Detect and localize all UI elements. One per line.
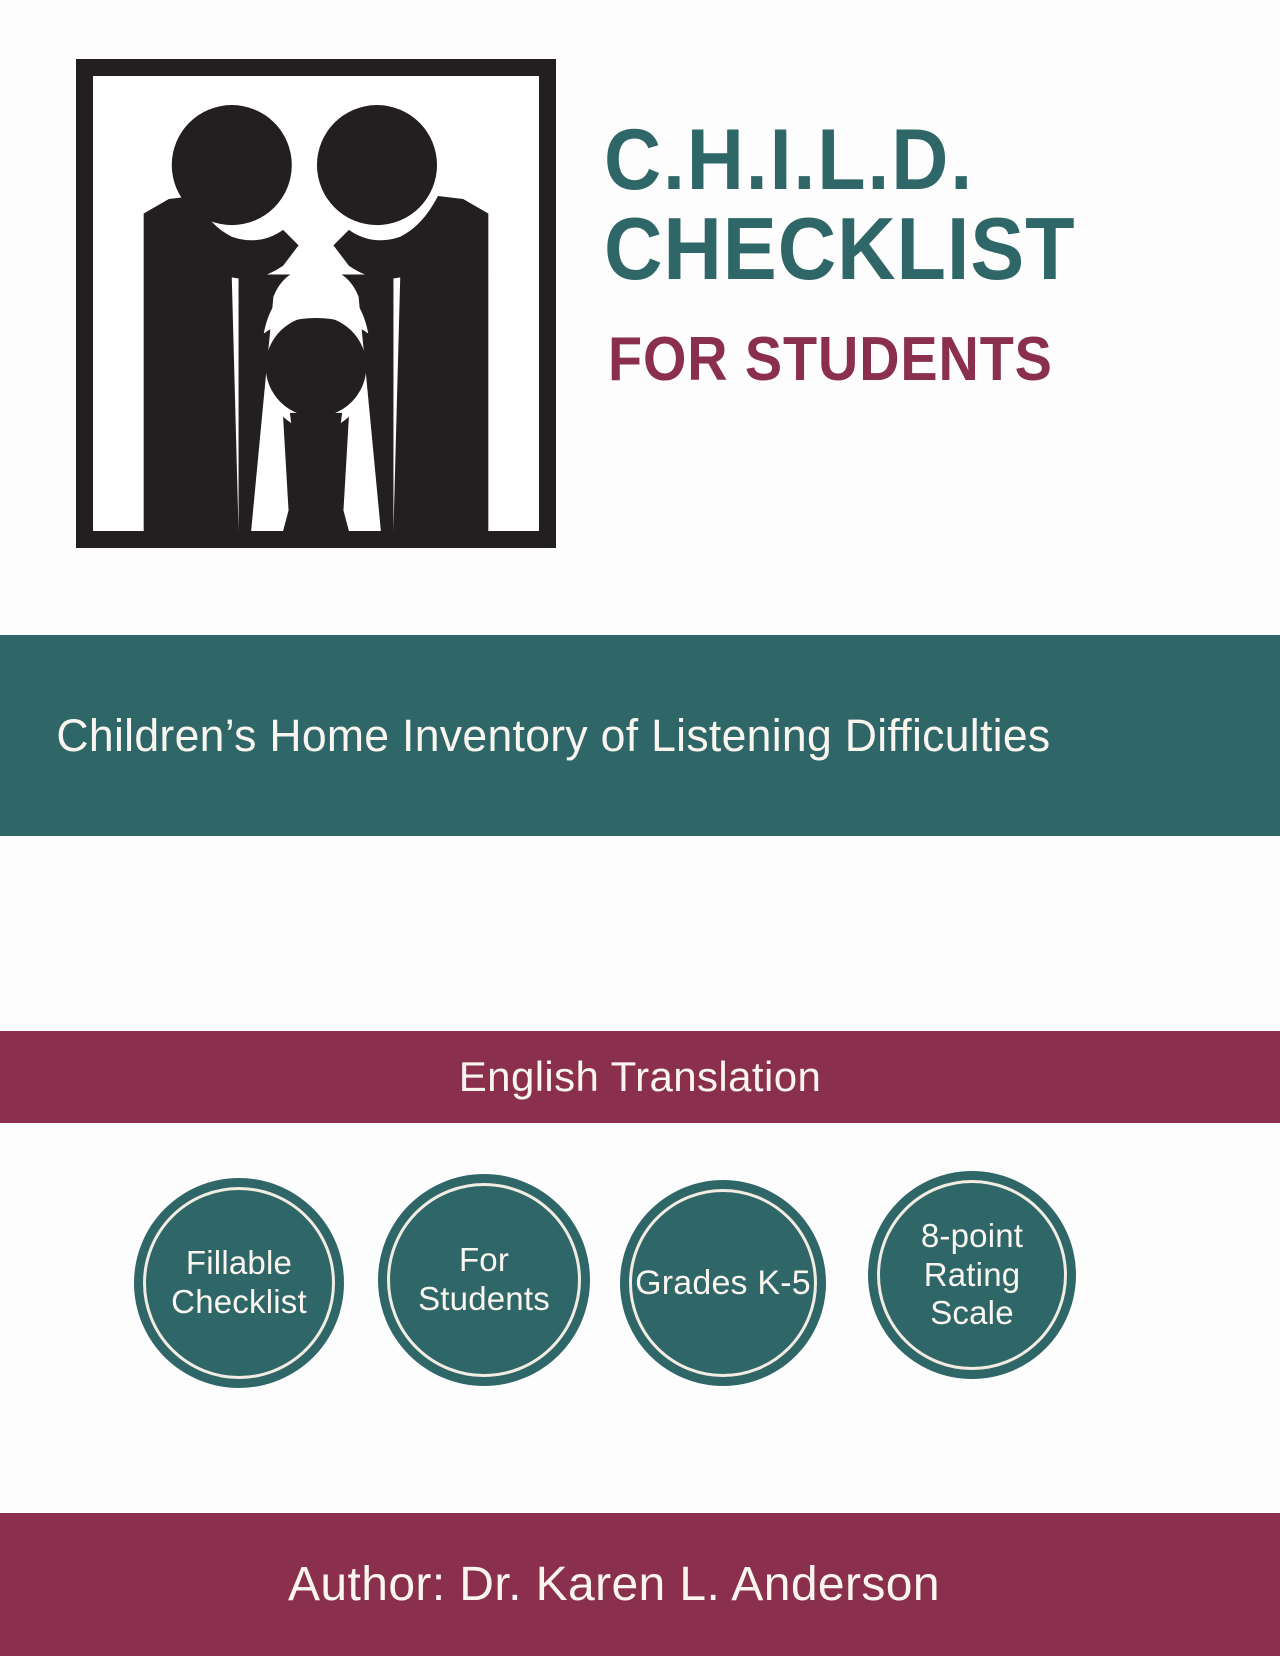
author-text: Author: Dr. Karen L. Anderson [0, 1557, 940, 1612]
author-footer: Author: Dr. Karen L. Anderson [0, 1513, 1280, 1656]
translation-band-text: English Translation [459, 1053, 821, 1101]
page-title-line-1: C.H.I.L.D. [604, 118, 1174, 202]
title-block: C.H.I.L.D. CHECKLIST FOR STUDENTS [604, 118, 1224, 391]
badge-label-line-2: Checklist [171, 1283, 307, 1320]
badge-eight-point-rating-scale: 8-point Rating Scale [868, 1171, 1076, 1379]
subtitle-banner: Children’s Home Inventory of Listening D… [0, 635, 1280, 836]
subtitle-banner-text: Children’s Home Inventory of Listening D… [0, 710, 1051, 762]
cover-page: C.H.I.L.D. CHECKLIST FOR STUDENTS Childr… [0, 0, 1280, 1656]
badge-label-line-2: Rating [924, 1256, 1021, 1293]
badge-label: Grades K-5 [625, 1263, 821, 1303]
translation-band: English Translation [0, 1031, 1280, 1123]
badge-label-line-3: Scale [930, 1294, 1014, 1331]
badge-for-students: For Students [378, 1174, 590, 1386]
badge-row: Fillable Checklist For Students Grades K… [0, 1174, 1280, 1409]
badge-label-line-1: Fillable [186, 1244, 292, 1281]
badge-label-line-1: For [459, 1241, 509, 1278]
cover-header: C.H.I.L.D. CHECKLIST FOR STUDENTS [0, 0, 1280, 600]
badge-grades-k-5: Grades K-5 [620, 1180, 826, 1386]
badge-fillable-checklist: Fillable Checklist [134, 1178, 344, 1388]
badge-label: 8-point Rating Scale [911, 1217, 1033, 1334]
badge-label-line-1: Grades K-5 [635, 1264, 811, 1302]
family-pictogram-logo [76, 59, 556, 548]
badge-label: For Students [408, 1241, 560, 1319]
badge-label-line-2: Students [418, 1280, 550, 1317]
page-title-line-2: CHECKLIST [604, 206, 1174, 292]
family-pictogram-icon [93, 76, 539, 531]
badge-label: Fillable Checklist [161, 1244, 317, 1322]
badge-label-line-1: 8-point [921, 1217, 1023, 1254]
page-subtitle: FOR STUDENTS [608, 329, 1162, 391]
